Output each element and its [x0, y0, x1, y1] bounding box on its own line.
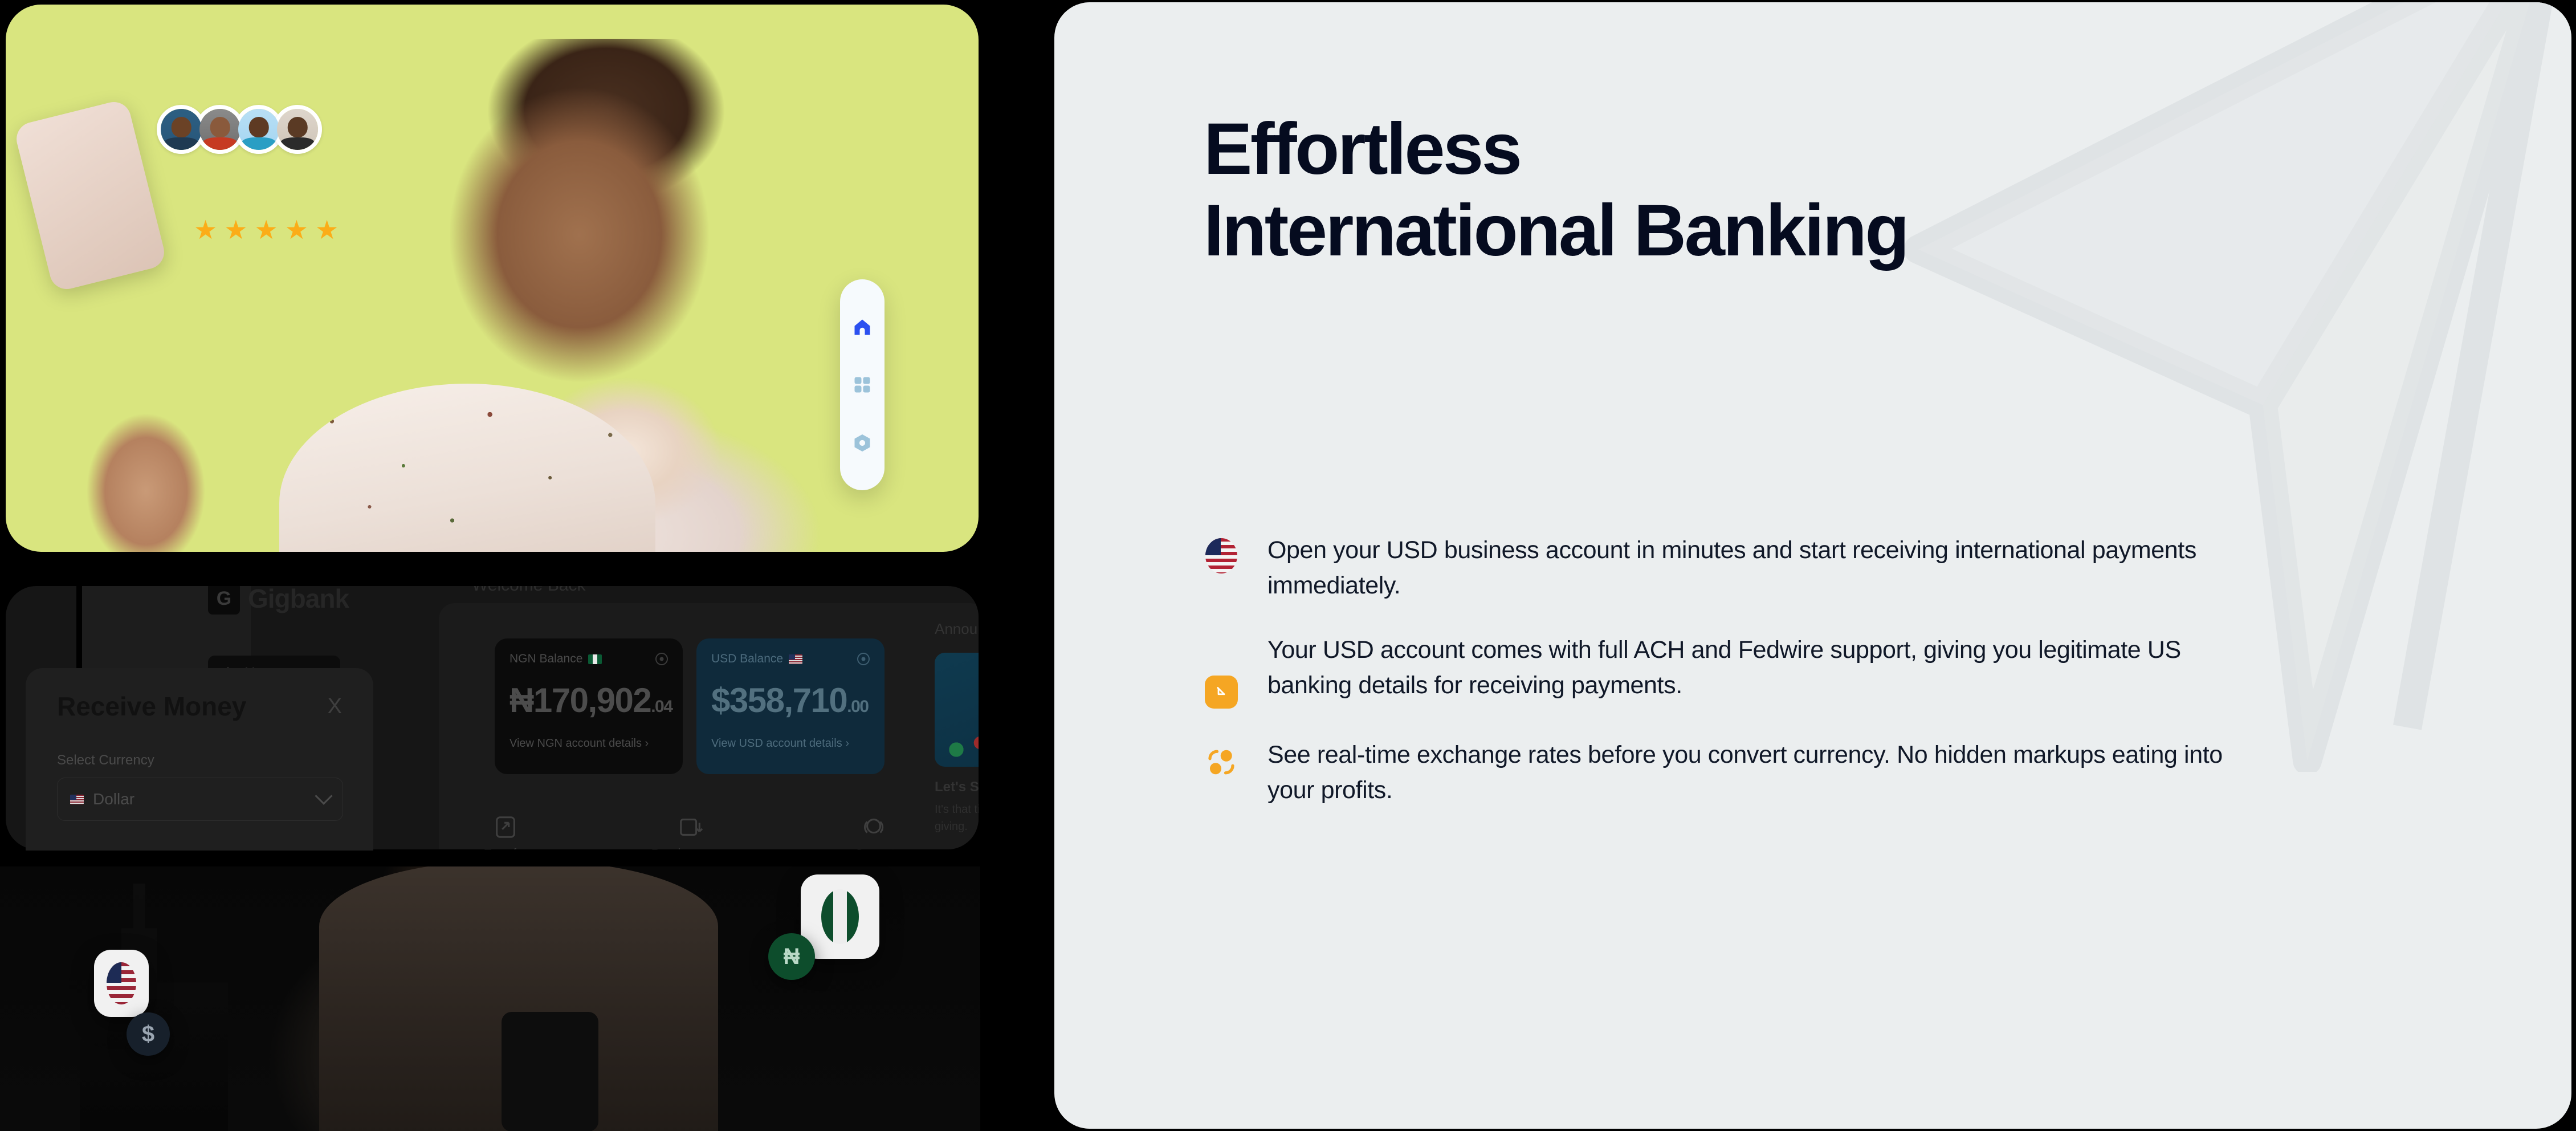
feature-item: Your USD account comes with full ACH and… — [1204, 632, 2378, 709]
chevron-right-icon: › — [645, 737, 649, 750]
feature-text: Your USD account comes with full ACH and… — [1267, 632, 2236, 703]
quick-action-transfer[interactable]: Transfer — [484, 814, 527, 849]
avatar — [273, 105, 322, 154]
avatar — [234, 105, 283, 154]
ngn-coin-badge: ₦ — [768, 933, 815, 980]
hand-holding-phone — [23, 335, 228, 552]
balance-label-usd: USD Balance — [711, 652, 783, 666]
feature-text: Open your USD business account in minute… — [1267, 532, 2236, 604]
view-usd-account-link[interactable]: View USD account details — [711, 737, 842, 750]
dashboard-brand: G Gigbank — [208, 586, 349, 615]
quick-action-convert[interactable]: Convert — [855, 814, 895, 849]
modal-title: Receive Money — [57, 691, 246, 722]
avatar-group — [157, 105, 322, 154]
announcement-image: 20 — [935, 653, 979, 767]
avatar — [157, 105, 206, 154]
arrow-down-right-icon — [1205, 676, 1238, 709]
eye-toggle-icon[interactable] — [655, 653, 668, 665]
floating-nav-pill[interactable] — [840, 279, 885, 490]
panel-header: Effortless International Banking — [1204, 108, 2343, 272]
currency-select-value: Dollar — [93, 790, 134, 808]
balance-card-usd[interactable]: USD Balance $358,710.00 View USD account… — [696, 638, 885, 774]
balance-amount-ngn: ₦170,902 — [510, 681, 651, 719]
feature-item: See real-time exchange rates before you … — [1204, 737, 2378, 808]
phone-device — [502, 1012, 598, 1131]
star-icon: ★ — [315, 217, 339, 243]
nigeria-flag-icon — [588, 654, 602, 664]
star-icon: ★ — [194, 217, 217, 243]
quick-actions: Transfer Receive money Convert — [484, 814, 895, 849]
us-flag-icon — [107, 962, 136, 1004]
balance-cents-usd: .00 — [847, 697, 868, 716]
grid-icon[interactable] — [852, 375, 873, 395]
rating-stars: ★ ★ ★ ★ ★ — [194, 217, 339, 243]
brand-name: Gigbank — [248, 586, 349, 614]
content-panel: Effortless International Banking Open yo… — [1054, 2, 2571, 1129]
avatar — [195, 105, 244, 154]
balance-cents-ngn: .04 — [651, 697, 672, 716]
star-icon: ★ — [224, 217, 247, 243]
welcome-text: Welcome Back — [472, 586, 586, 595]
feature-item: Open your USD business account in minute… — [1204, 532, 2378, 604]
chevron-down-icon — [315, 787, 332, 805]
quick-action-receive-money[interactable]: Receive money — [651, 814, 730, 849]
balance-amount-usd: $358,710 — [711, 681, 847, 719]
phone-device — [13, 99, 168, 293]
star-icon: ★ — [285, 217, 308, 243]
feature-list: Open your USD business account in minute… — [1204, 532, 2378, 836]
close-icon[interactable]: X — [328, 694, 342, 719]
holiday-decoration — [943, 729, 979, 763]
brand-logo-mark: G — [208, 586, 240, 615]
us-flag-card — [94, 950, 149, 1017]
chevron-right-icon: › — [845, 737, 849, 750]
page-title: Effortless International Banking — [1204, 108, 1916, 272]
feature-icon-wrap — [1204, 737, 1239, 779]
convert-icon — [862, 814, 888, 840]
currency-exchange-icon — [1204, 745, 1238, 779]
announcement-headline: Let's Spread Lo — [935, 779, 979, 795]
star-icon: ★ — [255, 217, 278, 243]
home-icon[interactable] — [852, 317, 873, 337]
us-flag-icon — [789, 654, 802, 664]
balance-card-ngn[interactable]: NGN Balance ₦170,902.04 View NGN account… — [495, 638, 683, 774]
announcement-panel: Announcement 20 Let's Spread Lo It's tha… — [935, 620, 979, 849]
announcement-title: Announcement — [935, 620, 979, 638]
hero-card: ★ ★ ★ ★ ★ — [6, 5, 979, 552]
us-flag-icon — [1205, 538, 1237, 573]
transfer-icon — [492, 814, 519, 840]
currency-select[interactable]: Dollar — [57, 778, 343, 821]
quick-action-receive-money-label: Receive money — [651, 847, 730, 849]
feature-icon-wrap — [1204, 632, 1239, 709]
left-visual-column: ★ ★ ★ ★ ★ — [0, 0, 980, 1131]
hexagon-settings-icon[interactable] — [852, 433, 873, 453]
us-flag-icon — [70, 795, 84, 804]
screenshot-root: ★ ★ ★ ★ ★ — [0, 0, 2576, 1131]
eye-toggle-icon[interactable] — [857, 653, 870, 665]
feature-icon-wrap — [1204, 532, 1239, 573]
feature-text: See real-time exchange rates before you … — [1267, 737, 2236, 808]
balance-label-ngn: NGN Balance — [510, 652, 582, 666]
quick-action-convert-label: Convert — [855, 847, 895, 849]
nigeria-flag-icon — [821, 889, 859, 944]
receive-money-modal[interactable]: Receive Money X Select Currency Dollar — [26, 668, 373, 851]
announcement-body: It's that time of th through giving. — [935, 801, 979, 835]
receive-money-icon — [678, 814, 704, 840]
view-ngn-account-link[interactable]: View NGN account details — [510, 737, 642, 750]
select-currency-label: Select Currency — [57, 752, 154, 768]
usd-coin-badge: $ — [127, 1012, 170, 1056]
quick-action-transfer-label: Transfer — [484, 847, 527, 849]
hero-portrait-photo — [256, 39, 929, 552]
